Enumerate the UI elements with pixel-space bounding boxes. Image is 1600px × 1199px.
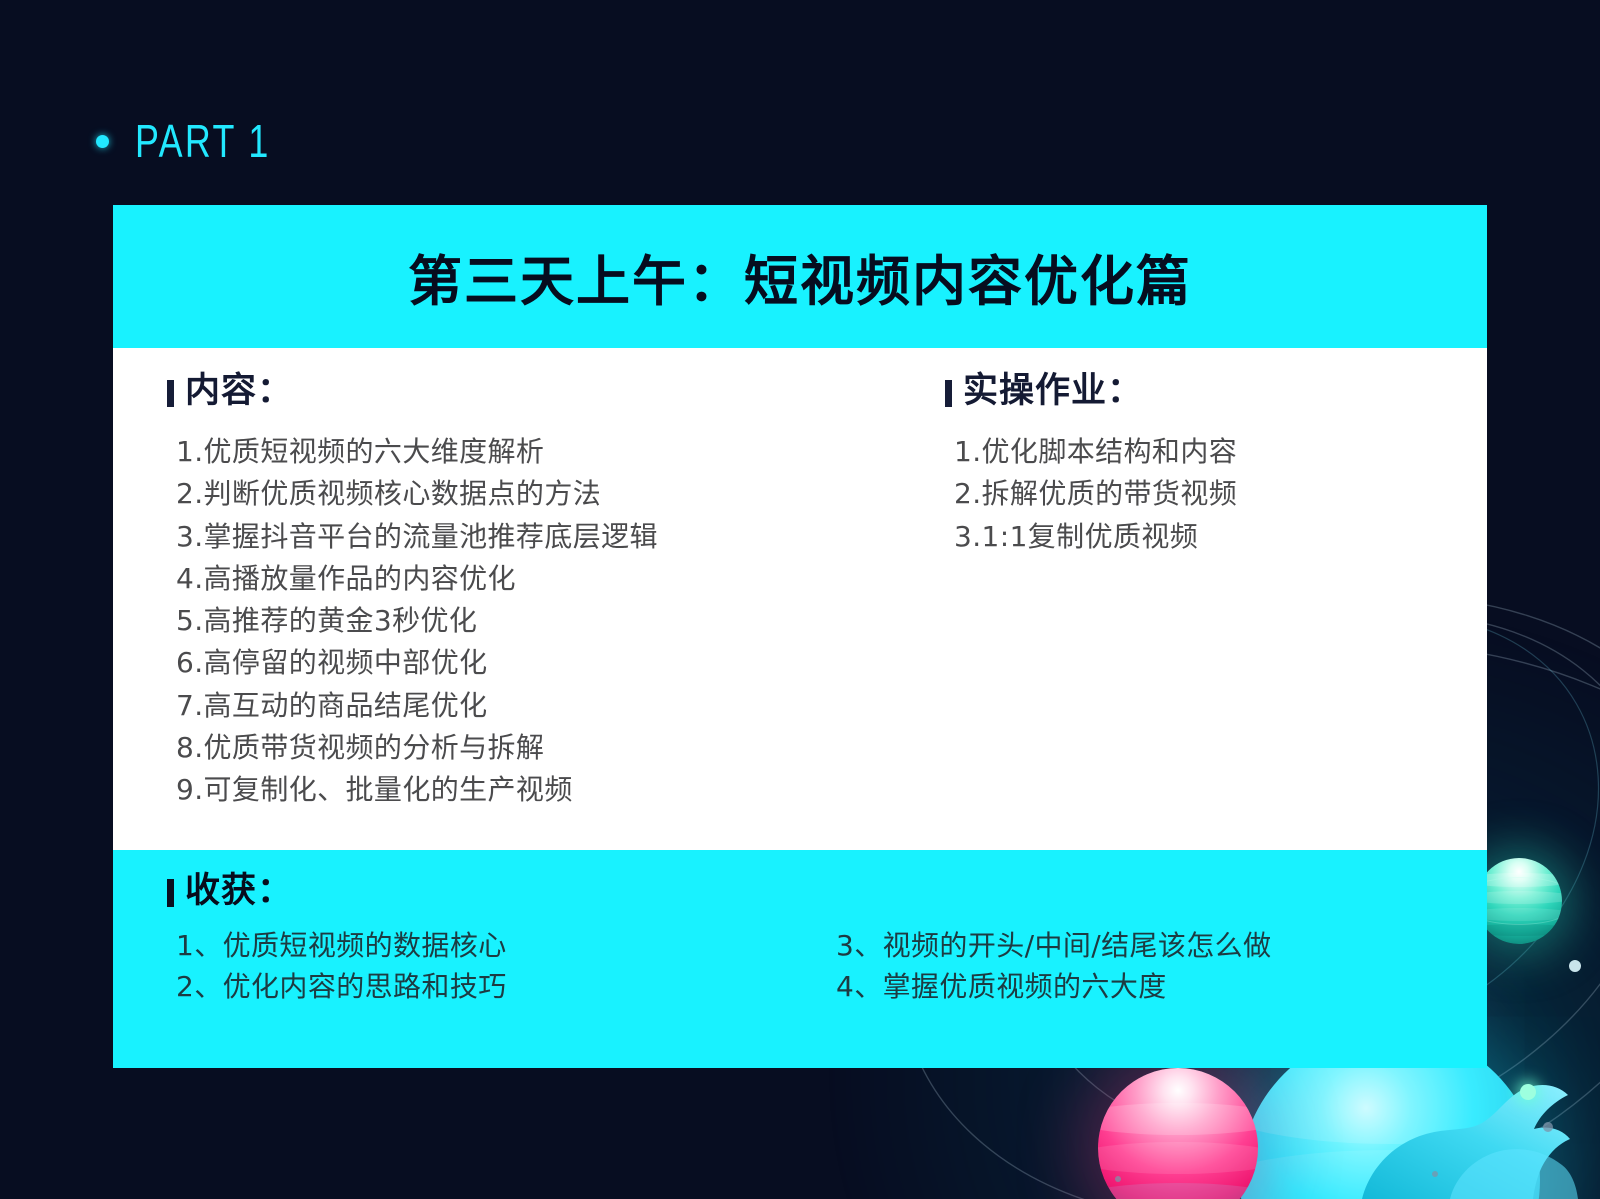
- star-dot-glow: [1520, 1084, 1536, 1100]
- section-marker-bar-icon: [167, 879, 174, 907]
- list-item: 1.优质短视频的六大维度解析: [176, 431, 903, 473]
- card-title: 第三天上午：短视频内容优化篇: [408, 237, 1192, 316]
- list-item: 5.高推荐的黄金3秒优化: [176, 600, 903, 642]
- list-item: 8.优质带货视频的分析与拆解: [176, 727, 903, 769]
- list-item: 6.高停留的视频中部优化: [176, 642, 903, 684]
- list-item: 2、优化内容的思路和技巧: [176, 966, 836, 1007]
- list-item: 1.优化脚本结构和内容: [954, 431, 1487, 473]
- bullet-dot-icon: [96, 135, 109, 148]
- list-item: 2.判断优质视频核心数据点的方法: [176, 473, 903, 515]
- star-dot: [1115, 1176, 1121, 1182]
- gains-left-column: 1、优质短视频的数据核心 2、优化内容的思路和技巧: [176, 925, 836, 1007]
- star-dot: [1432, 1171, 1438, 1177]
- list-item: 1、优质短视频的数据核心: [176, 925, 836, 966]
- gains-heading-label: 收获：: [185, 874, 293, 909]
- section-marker-bar-icon: [167, 380, 174, 407]
- list-item: 7.高互动的商品结尾优化: [176, 685, 903, 727]
- gains-columns: 1、优质短视频的数据核心 2、优化内容的思路和技巧 3、视频的开头/中间/结尾该…: [167, 925, 1487, 1007]
- homework-item-list: 1.优化脚本结构和内容 2.拆解优质的带货视频 3.1:1复制优质视频: [945, 431, 1487, 558]
- part-label: PART 1: [135, 114, 271, 168]
- gains-left-list: 1、优质短视频的数据核心 2、优化内容的思路和技巧: [176, 925, 836, 1007]
- list-item: 9.可复制化、批量化的生产视频: [176, 769, 903, 811]
- star-dot: [1569, 960, 1581, 972]
- card-body: 内容： 1.优质短视频的六大维度解析 2.判断优质视频核心数据点的方法 3.掌握…: [113, 348, 1487, 850]
- homework-section-heading: 实操作业：: [945, 374, 1487, 409]
- star-dot: [1543, 1122, 1553, 1132]
- homework-heading-label: 实操作业：: [963, 374, 1143, 409]
- gains-section-heading: 收获：: [167, 874, 1487, 909]
- list-item: 4.高播放量作品的内容优化: [176, 558, 903, 600]
- list-item: 4、掌握优质视频的六大度: [836, 966, 1487, 1007]
- content-heading-label: 内容：: [185, 374, 293, 409]
- list-item: 2.拆解优质的带货视频: [954, 473, 1487, 515]
- homework-column: 实操作业： 1.优化脚本结构和内容 2.拆解优质的带货视频 3.1:1复制优质视…: [903, 374, 1487, 850]
- gains-right-column: 3、视频的开头/中间/结尾该怎么做 4、掌握优质视频的六大度: [836, 925, 1487, 1007]
- content-item-list: 1.优质短视频的六大维度解析 2.判断优质视频核心数据点的方法 3.掌握抖音平台…: [167, 431, 903, 811]
- slide-canvas: PART 1 第三天上午：短视频内容优化篇 内容： 1.优质短视频的六大维度解析…: [0, 0, 1600, 1199]
- card-header-banner: 第三天上午：短视频内容优化篇: [113, 205, 1487, 348]
- content-card: 第三天上午：短视频内容优化篇 内容： 1.优质短视频的六大维度解析 2.判断优质…: [113, 205, 1487, 1068]
- green-planet-sphere: [1476, 858, 1562, 944]
- gains-right-list: 3、视频的开头/中间/结尾该怎么做 4、掌握优质视频的六大度: [836, 925, 1487, 1007]
- list-item: 3.掌握抖音平台的流量池推荐底层逻辑: [176, 516, 903, 558]
- content-column: 内容： 1.优质短视频的六大维度解析 2.判断优质视频核心数据点的方法 3.掌握…: [113, 374, 903, 850]
- card-footer-gains: 收获： 1、优质短视频的数据核心 2、优化内容的思路和技巧 3、视频的开头/中间…: [113, 850, 1487, 1068]
- pink-planet-sphere: [1098, 1068, 1258, 1199]
- list-item: 3、视频的开头/中间/结尾该怎么做: [836, 925, 1487, 966]
- section-marker-bar-icon: [945, 380, 952, 407]
- content-section-heading: 内容：: [167, 374, 903, 409]
- part-label-row: PART 1: [96, 114, 309, 168]
- list-item: 3.1:1复制优质视频: [954, 516, 1487, 558]
